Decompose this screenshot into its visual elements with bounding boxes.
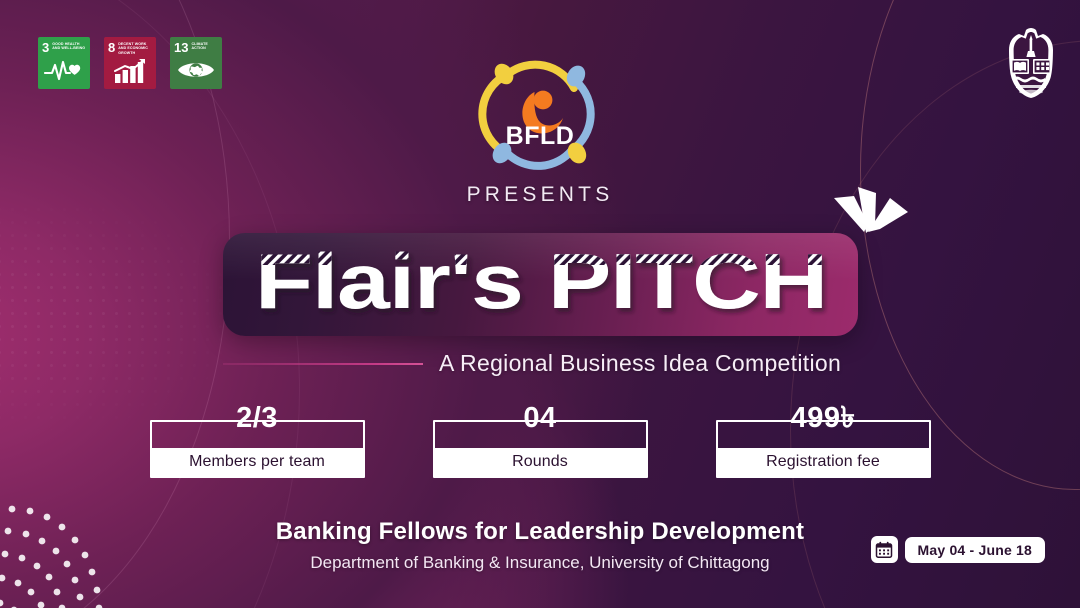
sdg-badge-row: 3 GOOD HEALTH AND WELL-BEING 8 DECENT WO… <box>38 37 222 89</box>
sdg-badge-13: 13 CLIMATE ACTION <box>170 37 222 89</box>
university-crest-icon <box>1000 26 1062 100</box>
sdg-badge-13-header: 13 CLIMATE ACTION <box>174 41 218 54</box>
stat-rounds-value: 04 <box>513 404 566 433</box>
presents-label: PRESENTS <box>467 183 614 207</box>
tagline-rule <box>223 363 423 365</box>
sdg-badge-3: 3 GOOD HEALTH AND WELL-BEING <box>38 37 90 89</box>
stat-rounds: 04 Rounds <box>433 420 648 478</box>
title-text-wrapper: Flair's PITCH Flair's PITCH <box>223 233 858 336</box>
background-curve-left-1 <box>0 0 230 608</box>
date-chip: May 04 - June 18 <box>871 536 1045 563</box>
stat-members-label: Members per team <box>189 453 325 471</box>
sdg-badge-8: 8 DECENT WORK AND ECONOMIC GROWTH <box>104 37 156 89</box>
date-range-text: May 04 - June 18 <box>905 537 1045 563</box>
sdg-badge-13-name: CLIMATE ACTION <box>191 41 218 51</box>
bfld-logo-text: BFLD <box>506 122 575 150</box>
stat-fee-label-bar: Registration fee <box>718 448 929 476</box>
sdg-badge-3-name: GOOD HEALTH AND WELL-BEING <box>52 41 86 51</box>
stats-row: 2/3 Members per team 04 Rounds 499৳ Regi… <box>0 420 1080 478</box>
sdg-badge-8-name: DECENT WORK AND ECONOMIC GROWTH <box>118 41 152 55</box>
sdg-badge-3-header: 3 GOOD HEALTH AND WELL-BEING <box>42 41 86 54</box>
bfld-logo: BFLD <box>478 52 602 176</box>
sdg-badge-8-header: 8 DECENT WORK AND ECONOMIC GROWTH <box>108 41 152 55</box>
poster-canvas: 3 GOOD HEALTH AND WELL-BEING 8 DECENT WO… <box>0 0 1080 608</box>
stat-rounds-label-bar: Rounds <box>435 448 646 476</box>
tagline-row: A Regional Business Idea Competition <box>223 350 863 377</box>
stat-members-value: 2/3 <box>226 404 288 433</box>
sdg-badge-13-number: 13 <box>174 41 188 54</box>
stat-fee-value: 499৳ <box>781 404 866 433</box>
paper-shards-icon <box>828 182 928 234</box>
heartbeat-icon <box>42 54 86 89</box>
sdg-badge-8-number: 8 <box>108 41 115 54</box>
background-dot-texture <box>0 190 260 440</box>
event-title: Flair's PITCH Flair's PITCH <box>241 242 841 328</box>
growth-chart-icon <box>108 55 152 89</box>
sdg-badge-3-number: 3 <box>42 41 49 54</box>
stat-rounds-label: Rounds <box>512 453 568 471</box>
tagline-text: A Regional Business Idea Competition <box>439 350 841 377</box>
calendar-icon <box>871 536 898 563</box>
eye-globe-icon <box>174 54 218 89</box>
stat-registration-fee: 499৳ Registration fee <box>716 420 931 478</box>
stat-members-per-team: 2/3 Members per team <box>150 420 365 478</box>
stat-fee-label: Registration fee <box>766 453 880 471</box>
stat-members-label-bar: Members per team <box>152 448 363 476</box>
